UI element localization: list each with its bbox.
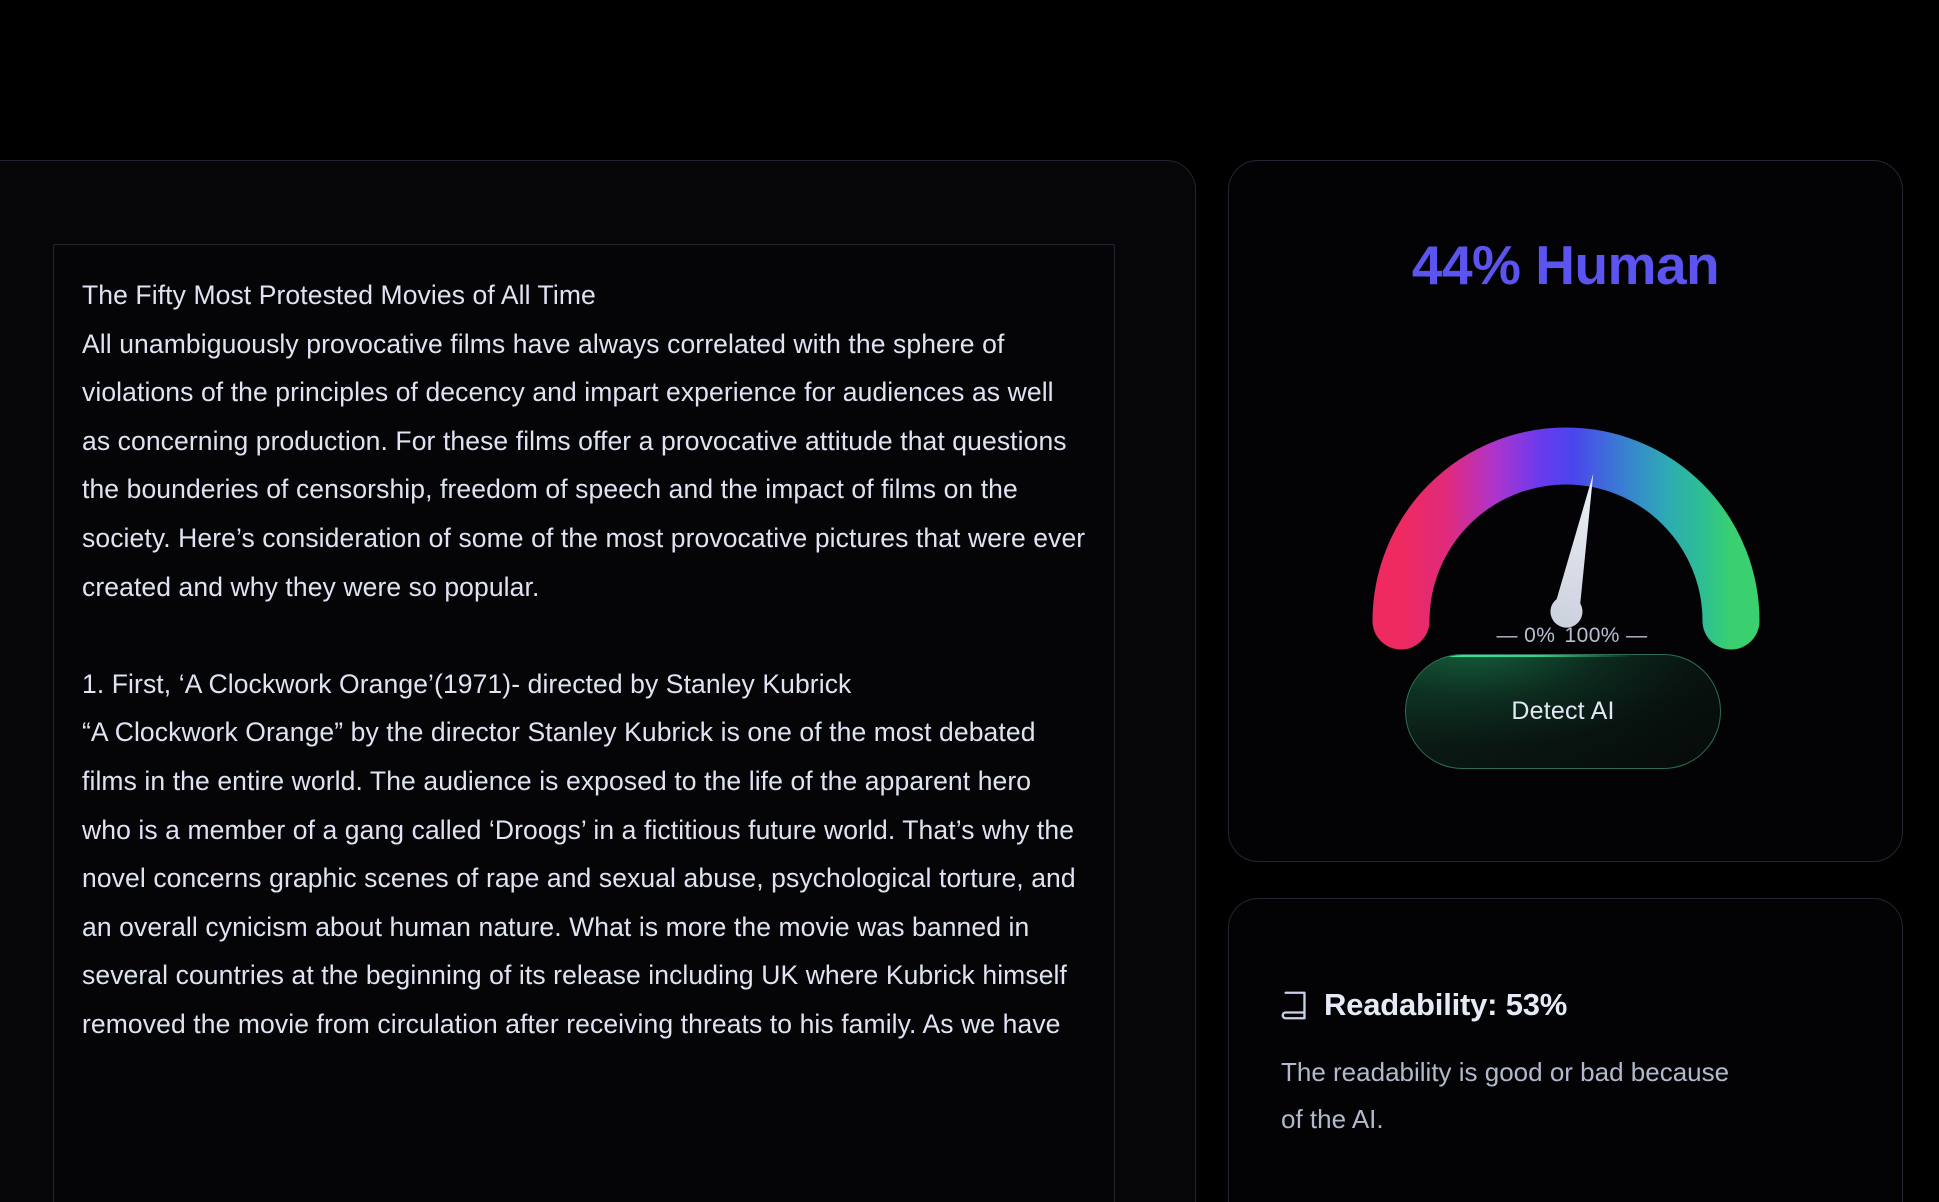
app-root: The Fifty Most Protested Movies of All T… [0,0,1939,1202]
gauge-needle [1547,471,1608,631]
readability-title: Readability: 53% [1324,987,1567,1023]
document-textarea[interactable]: The Fifty Most Protested Movies of All T… [53,244,1115,1202]
gauge-svg [1356,393,1776,653]
readability-description: The readability is good or bad because o… [1281,1049,1751,1143]
editor-card: The Fifty Most Protested Movies of All T… [0,160,1196,1202]
gauge-max-label: 100% — [1565,624,1648,648]
book-icon [1281,990,1308,1021]
document-text: The Fifty Most Protested Movies of All T… [82,271,1086,1049]
detect-ai-button[interactable]: Detect AI [1405,654,1721,769]
readability-card: Readability: 53% The readability is good… [1228,898,1903,1202]
ai-detector-card: 44% Human [1228,160,1903,862]
gauge-min-label: — 0% [1497,624,1556,648]
readability-header: Readability: 53% [1281,987,1850,1023]
detect-ai-button-label: Detect AI [1511,697,1614,726]
gauge-chart: — 0% 100% — [1356,393,1776,653]
detection-result-title: 44% Human [1229,233,1902,297]
